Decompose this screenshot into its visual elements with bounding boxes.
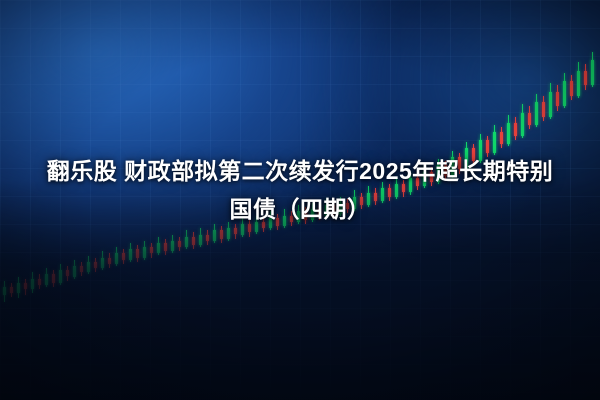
headline: 翻乐股 财政部拟第二次续发行2025年超长期特别 国债（四期） <box>0 152 600 228</box>
stock-news-banner: 翻乐股 财政部拟第二次续发行2025年超长期特别 国债（四期） <box>0 0 600 400</box>
headline-line-1: 翻乐股 财政部拟第二次续发行2025年超长期特别 <box>14 152 586 190</box>
headline-line-2: 国债（四期） <box>14 190 586 228</box>
